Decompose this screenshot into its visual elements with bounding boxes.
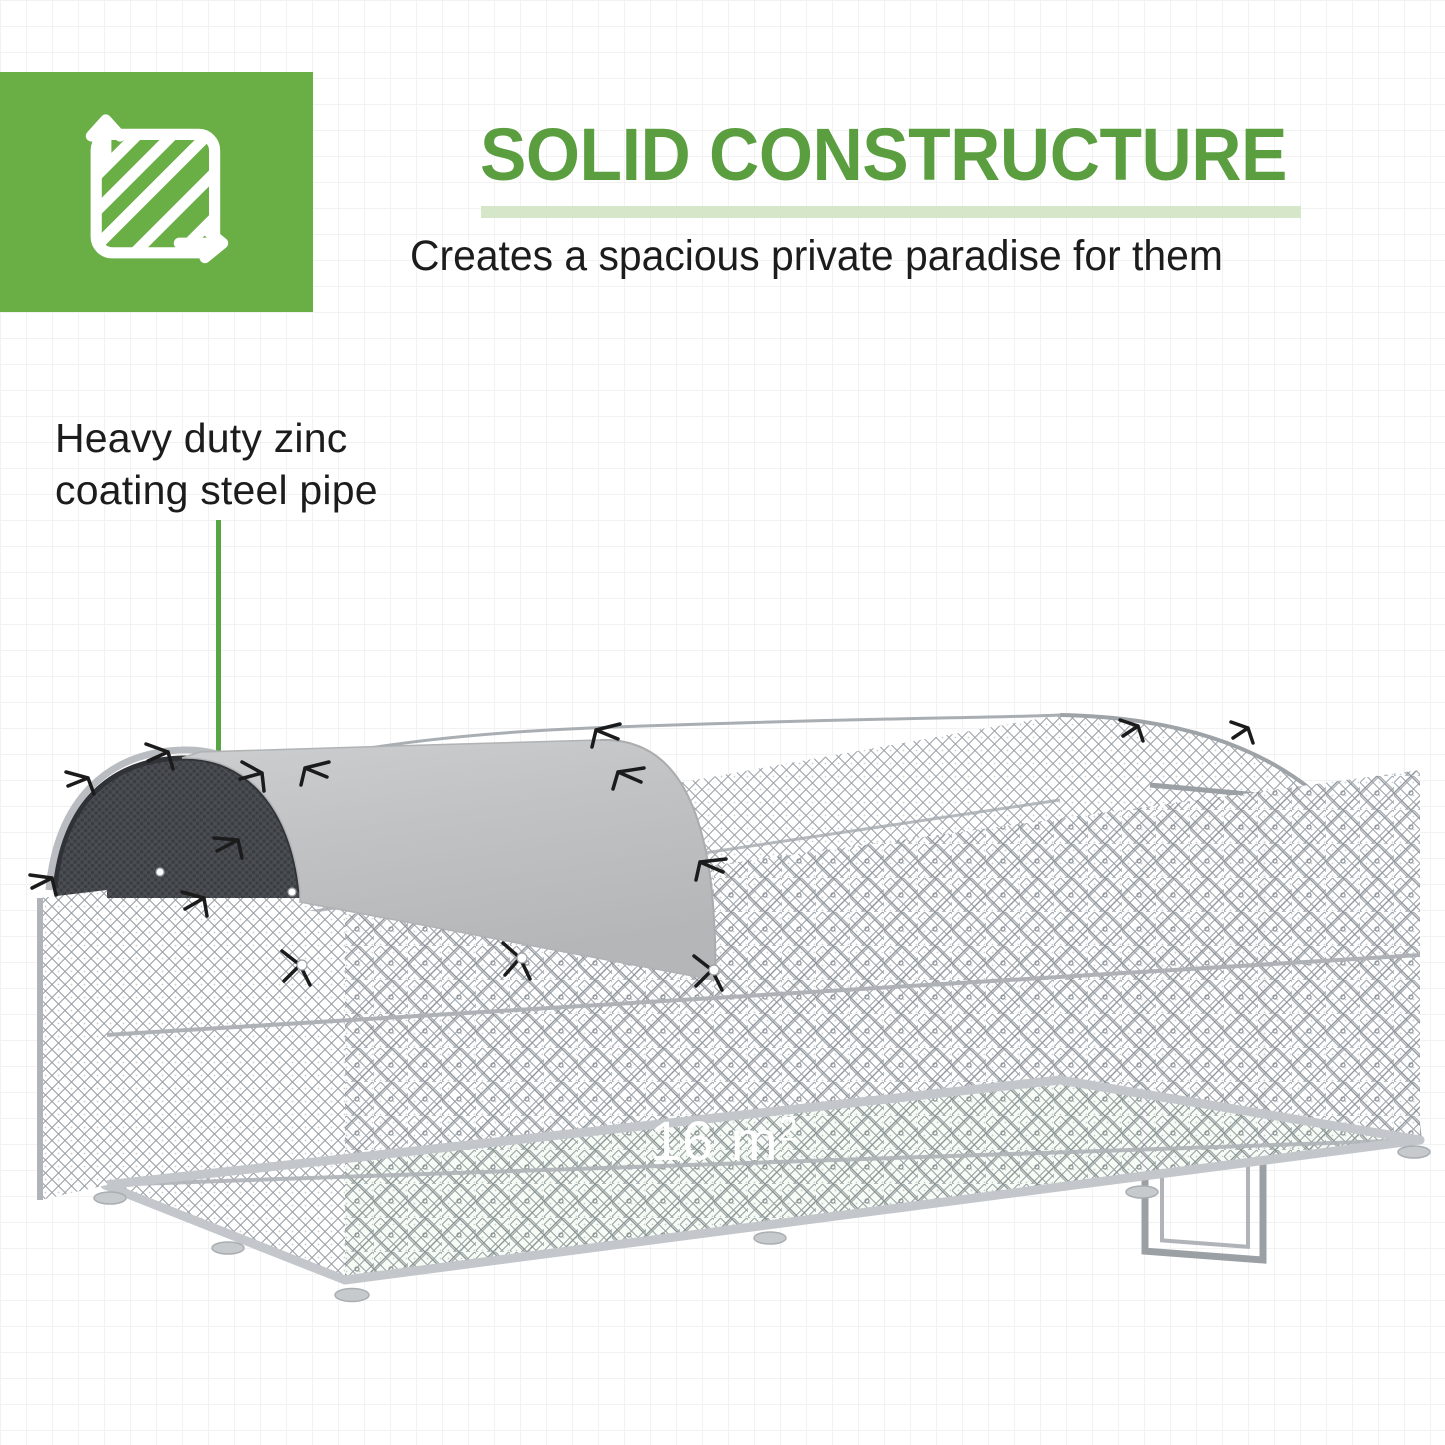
callout-label-line1: Heavy duty zinc [55,412,485,464]
floor-area-label: 16 m2 [650,1108,798,1173]
infographic-page: SOLID CONSTRUCTURE Creates a spacious pr… [0,0,1445,1445]
page-subtitle: Creates a spacious private paradise for … [410,232,1360,281]
product-illustration [0,640,1445,1340]
feature-badge [0,72,313,312]
callout-label: Heavy duty zinc coating steel pipe [55,412,485,516]
floor-area-value: 16 m [650,1109,779,1172]
area-expand-icon [77,112,237,272]
callout-label-line2: coating steel pipe [55,464,485,516]
title-divider [481,206,1301,218]
page-title: SOLID CONSTRUCTURE [480,118,1270,192]
floor-area-exponent: 2 [779,1110,799,1148]
